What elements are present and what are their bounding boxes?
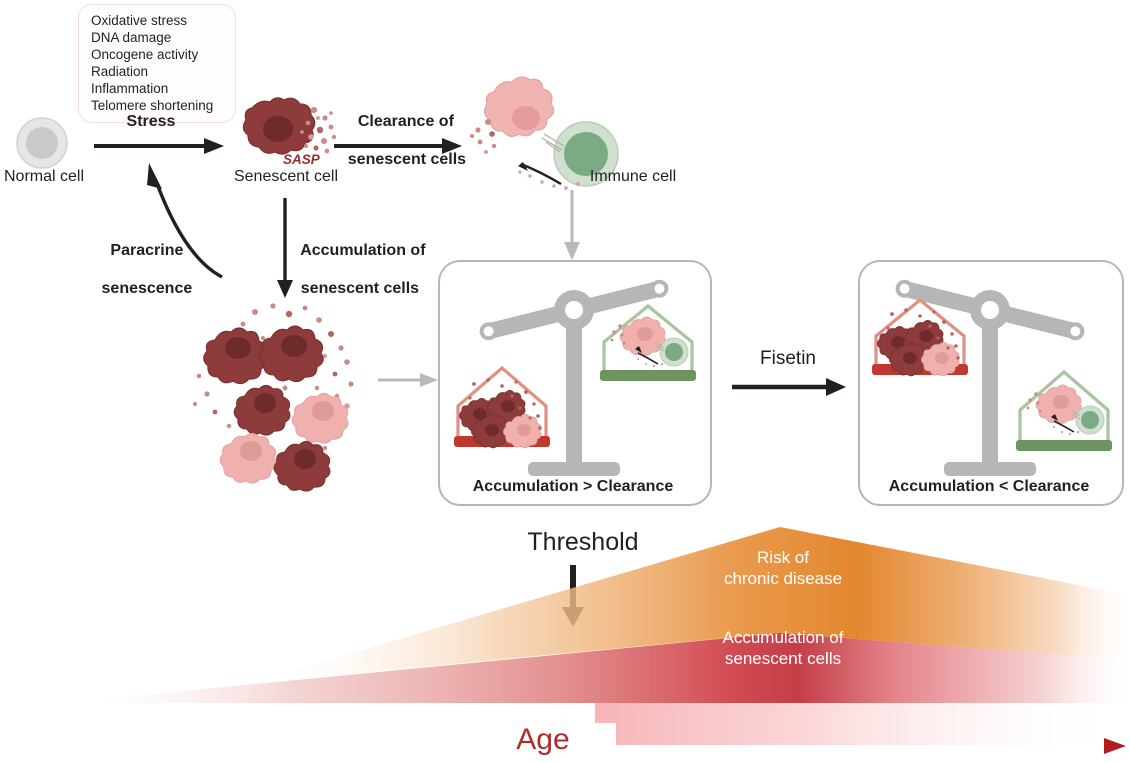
fisetin-label: Fisetin <box>718 348 858 370</box>
stress-arrow <box>92 135 226 157</box>
scale-graphic-balance-restored <box>864 266 1114 496</box>
accumulation-risk-wedge-chart <box>0 505 1130 705</box>
accumulation-wedge-line2: senescent cells <box>725 649 841 668</box>
stress-factor-item: Radiation <box>91 63 223 80</box>
age-label: Age <box>470 723 616 757</box>
figure-canvas: Oxidative stress DNA damage Oncogene act… <box>0 0 1130 763</box>
accumulation-wedge-line1: Accumulation of <box>723 628 844 647</box>
fisetin-arrow <box>730 376 848 398</box>
risk-wedge-line1: Risk of <box>757 548 809 567</box>
paracrine-label-line1: Paracrine <box>110 242 183 259</box>
stress-factor-item: Oxidative stress <box>91 12 223 29</box>
risk-wedge-line2: chronic disease <box>724 569 842 588</box>
sasp-label: SASP <box>283 152 320 167</box>
normal-cell-label: Normal cell <box>0 168 88 187</box>
stress-factor-item: Telomere shortening <box>91 97 223 114</box>
clearance-arrow <box>332 135 464 157</box>
stress-factors-box: Oxidative stress DNA damage Oncogene act… <box>78 4 236 123</box>
scale-caption-imbalance: Accumulation > Clearance <box>438 478 708 497</box>
accumulation-arrow <box>274 196 296 300</box>
senescent-cell-cluster <box>185 300 380 495</box>
scale-graphic-imbalance <box>444 266 702 496</box>
stress-factor-item: Inflammation <box>91 80 223 97</box>
accumulation-wedge-text: Accumulation of senescent cells <box>683 628 883 669</box>
immune-cell-label: Immune cell <box>540 168 726 187</box>
stress-label: Stress <box>96 113 206 132</box>
accumulation-label-line1: Accumulation of <box>300 242 425 259</box>
immune-to-scale-arrow <box>560 190 584 262</box>
risk-wedge-text: Risk of chronic disease <box>683 548 883 589</box>
scale-caption-balance-restored: Accumulation < Clearance <box>858 478 1120 497</box>
cluster-to-scale-arrow <box>378 370 440 390</box>
accumulation-label-line2: senescent cells <box>301 280 419 297</box>
clearance-label-line1: Clearance of <box>358 113 454 130</box>
stress-factor-item: DNA damage <box>91 29 223 46</box>
paracrine-senescence-label: Paracrine senescence <box>82 223 194 317</box>
stress-factor-item: Oncogene activity <box>91 46 223 63</box>
paracrine-label-line2: senescence <box>102 280 193 297</box>
